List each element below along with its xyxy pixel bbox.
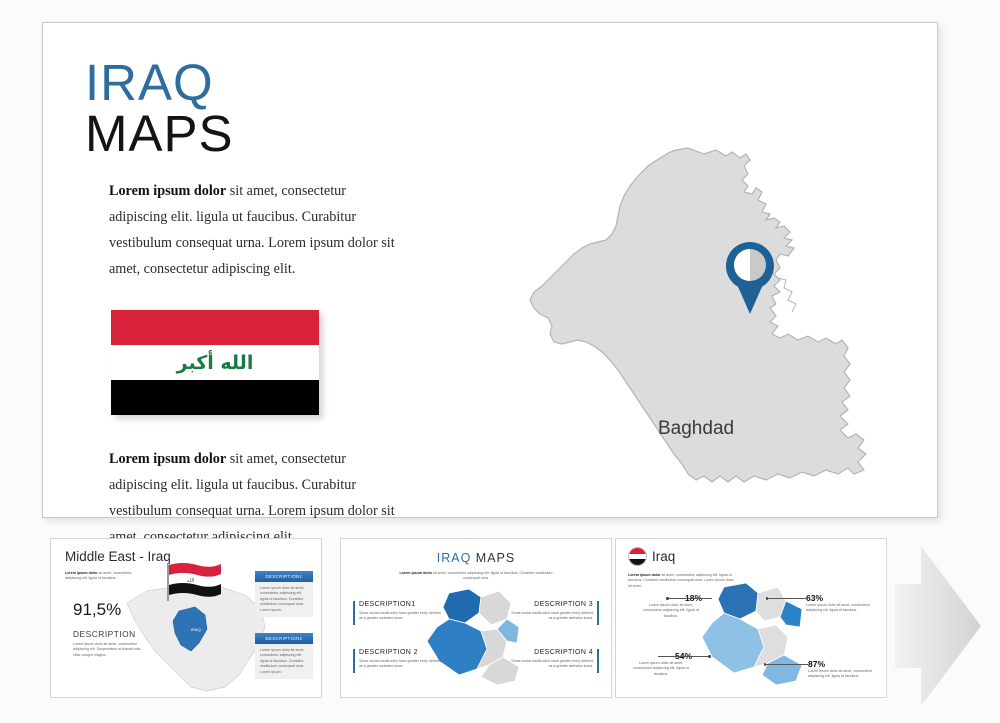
thumb2-desc-3-bar <box>597 601 599 625</box>
thumb2-region-north[interactable] <box>443 589 481 623</box>
svg-text:الله: الله <box>187 578 194 584</box>
baghdad-label: Baghdad <box>658 418 734 440</box>
thumb3-callout-3-body: Lorem ipsum dolor sit amet, consectetur … <box>630 661 692 677</box>
thumb2-desc-2-head: DESCRIPTION 2 <box>359 649 445 656</box>
title-line-iraq: IRAQ <box>85 58 234 108</box>
main-slide[interactable]: IRAQ MAPS Lorem ipsum dolor sit amet, co… <box>42 22 938 518</box>
thumb3-callout-4-body: Lorem ipsum dolor sit amet, consectetur … <box>808 669 872 680</box>
thumb1-waving-flag: الله <box>165 561 225 603</box>
next-arrow-button[interactable] <box>895 540 985 712</box>
thumb3-callout-1-body: Lorem ipsum dolor sit amet, consectetur … <box>640 603 702 619</box>
thumb2-description-2[interactable]: DESCRIPTION 2 Some social media sites ha… <box>353 649 445 670</box>
thumb2-desc-1-body: Some social media sites have greater ent… <box>359 611 445 622</box>
flag-stripe-white: الله أكبر <box>111 345 319 380</box>
thumb2-desc-3-body: Some social media sites have greater ent… <box>507 611 593 622</box>
iraq-map[interactable]: Baghdad <box>498 128 918 528</box>
iraq-flag: الله أكبر <box>111 310 319 415</box>
thumb3-callout-4-pct: 87% <box>808 659 872 669</box>
thumb3-iraq-regions-map[interactable] <box>696 579 820 691</box>
thumb2-desc-4-head: DESCRIPTION 4 <box>507 649 593 656</box>
thumb2-subtitle-rest: sit amet, consectetur adipiscing elit. l… <box>432 571 552 580</box>
thumb2-description-4[interactable]: DESCRIPTION 4 Some social media sites ha… <box>507 649 599 670</box>
thumb3-leader-dot-3 <box>708 655 711 658</box>
thumb3-leader-dot-2 <box>766 597 769 600</box>
thumb1-panel-1[interactable]: DESCRIPTION1 Lorem ipsum dolor sit amet,… <box>255 571 313 617</box>
thumb1-panel-1-head: DESCRIPTION1 <box>255 571 313 582</box>
thumb1-panel-2-head: DESCRIPTION2 <box>255 633 313 644</box>
thumb3-callout-2[interactable]: 63% Lorem ipsum dolor sit amet, consecte… <box>806 593 870 614</box>
thumb2-subtitle: Lorem ipsum dolor sit amet, consectetur … <box>397 571 555 582</box>
thumb2-desc-1-head: DESCRIPTION1 <box>359 601 445 608</box>
thumb1-iraq-label: IRAQ <box>191 627 201 632</box>
thumb2-title-dark: MAPS <box>476 551 515 565</box>
thumb2-desc-2-body: Some social media sites have greater ent… <box>359 659 445 670</box>
iraq-border-detail <box>778 278 796 312</box>
thumb3-title: Iraq <box>652 549 675 564</box>
thumb3-leader-2 <box>766 598 806 599</box>
next-arrow-icon <box>895 540 985 712</box>
thumb2-desc-3-head: DESCRIPTION 3 <box>507 601 593 608</box>
thumb2-title: IRAQ MAPS <box>347 551 605 565</box>
thumb1-intro-bold: Lorem ipsum dolor <box>65 571 98 575</box>
thumb1-panel-2-body: Lorem ipsum dolor sit amet, consectetur … <box>255 644 313 679</box>
intro-paragraph-bottom-bold: Lorem ipsum dolor <box>109 451 226 467</box>
thumbnail-iraq-maps[interactable]: IRAQ MAPS Lorem ipsum dolor sit amet, co… <box>340 538 612 698</box>
title-line-maps: MAPS <box>85 108 234 160</box>
thumb3-leader-4 <box>764 664 808 665</box>
thumb2-subtitle-bold: Lorem ipsum dolor <box>400 571 433 575</box>
thumb1-stat: 91,5% <box>73 600 121 620</box>
thumb3-callout-4[interactable]: 87% Lorem ipsum dolor sit amet, consecte… <box>808 659 872 680</box>
thumb3-callout-2-body: Lorem ipsum dolor sit amet, consectetur … <box>806 603 870 614</box>
thumb3-leader-1 <box>666 598 712 599</box>
thumbnail-strip: Middle East - Iraq Lorem ipsum dolor sit… <box>0 528 1000 723</box>
thumbnail-iraq-stats[interactable]: Iraq Lorem ipsum dolor sit amet, consect… <box>615 538 887 698</box>
thumb3-leader-dot-4 <box>764 663 767 666</box>
thumbnail-middle-east-iraq[interactable]: Middle East - Iraq Lorem ipsum dolor sit… <box>50 538 322 698</box>
thumb2-desc-4-bar <box>597 649 599 673</box>
thumb2-desc-4-body: Some social media sites have greater ent… <box>507 659 593 670</box>
intro-paragraph-top-bold: Lorem ipsum dolor <box>109 183 226 199</box>
flag-takbir-script: الله أكبر <box>111 352 319 374</box>
thumb3-region-west[interactable] <box>702 613 764 673</box>
thumb2-description-1[interactable]: DESCRIPTION1 Some social media sites hav… <box>353 601 445 622</box>
thumb3-header: Iraq <box>628 547 675 566</box>
page-title: IRAQ MAPS <box>85 58 234 160</box>
flag-stripe-black <box>111 380 319 415</box>
thumb1-title: Middle East - Iraq <box>65 549 171 564</box>
thumb3-callout-2-pct: 63% <box>806 593 870 603</box>
thumb3-callout-1[interactable]: 18% Lorem ipsum dolor sit amet, consecte… <box>640 593 702 619</box>
thumb3-leader-dot-1 <box>666 597 669 600</box>
iraq-flag-badge-icon <box>628 547 647 566</box>
thumb3-callout-3[interactable]: 54% Lorem ipsum dolor sit amet, consecte… <box>630 651 692 677</box>
intro-paragraph-top: Lorem ipsum dolor sit amet, consectetur … <box>109 178 395 282</box>
thumb2-desc-2-bar <box>353 649 355 673</box>
thumb2-desc-1-bar <box>353 601 355 625</box>
flag-stripe-red <box>111 310 319 345</box>
thumb2-description-3[interactable]: DESCRIPTION 3 Some social media sites ha… <box>507 601 599 622</box>
iraq-map-svg <box>498 128 918 528</box>
thumb3-intro-bold: Lorem ipsum dolor <box>628 573 661 577</box>
thumb3-leader-3 <box>658 656 710 657</box>
thumb2-title-accent: IRAQ <box>437 551 476 565</box>
thumb1-panel-2[interactable]: DESCRIPTION2 Lorem ipsum dolor sit amet,… <box>255 633 313 679</box>
thumb1-panel-1-body: Lorem ipsum dolor sit amet, consectetur … <box>255 582 313 617</box>
